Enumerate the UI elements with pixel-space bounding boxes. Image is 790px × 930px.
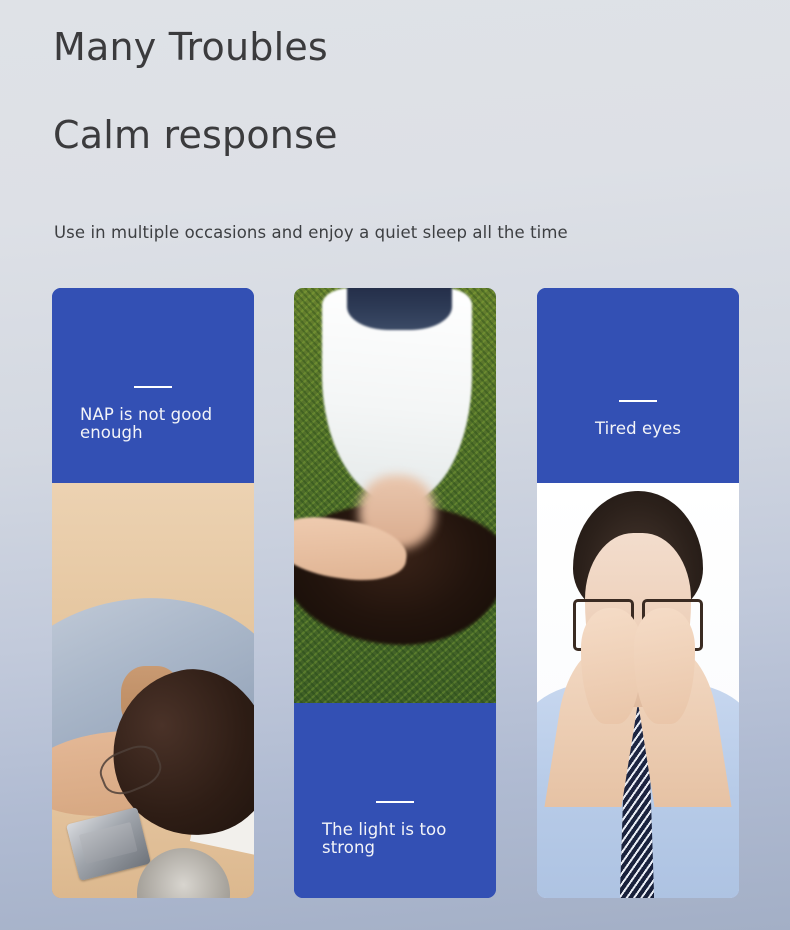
photo-layer-left-hand [581, 608, 642, 724]
promo-page: Many Troubles Calm response Use in multi… [0, 0, 790, 930]
divider-rule [134, 386, 172, 388]
card-label-panel: NAP is not good enough [52, 288, 254, 483]
feature-card-light[interactable]: The light is too strong [294, 288, 496, 898]
divider-rule [619, 400, 657, 402]
feature-card-nap[interactable]: NAP is not good enough [52, 288, 254, 898]
photo-woman-on-grass [294, 288, 496, 703]
feature-card-row: NAP is not good enough [0, 288, 790, 898]
card-label-panel: The light is too strong [294, 703, 496, 898]
card-label: Tired eyes [537, 420, 739, 467]
page-title-line-1: Many Troubles [53, 28, 328, 66]
card-label: The light is too strong [294, 821, 496, 882]
feature-card-tired-eyes[interactable]: Tired eyes [537, 288, 739, 898]
photo-man-rubbing-eyes [537, 483, 739, 898]
page-subtitle: Use in multiple occasions and enjoy a qu… [54, 223, 568, 242]
photo-man-asleep-at-desk [52, 483, 254, 898]
card-label: NAP is not good enough [52, 406, 254, 467]
photo-layer-right-hand [634, 608, 695, 724]
divider-rule [376, 801, 414, 803]
card-label-panel: Tired eyes [537, 288, 739, 483]
photo-layer-dress-top [347, 288, 452, 330]
page-title-line-2: Calm response [53, 116, 338, 154]
